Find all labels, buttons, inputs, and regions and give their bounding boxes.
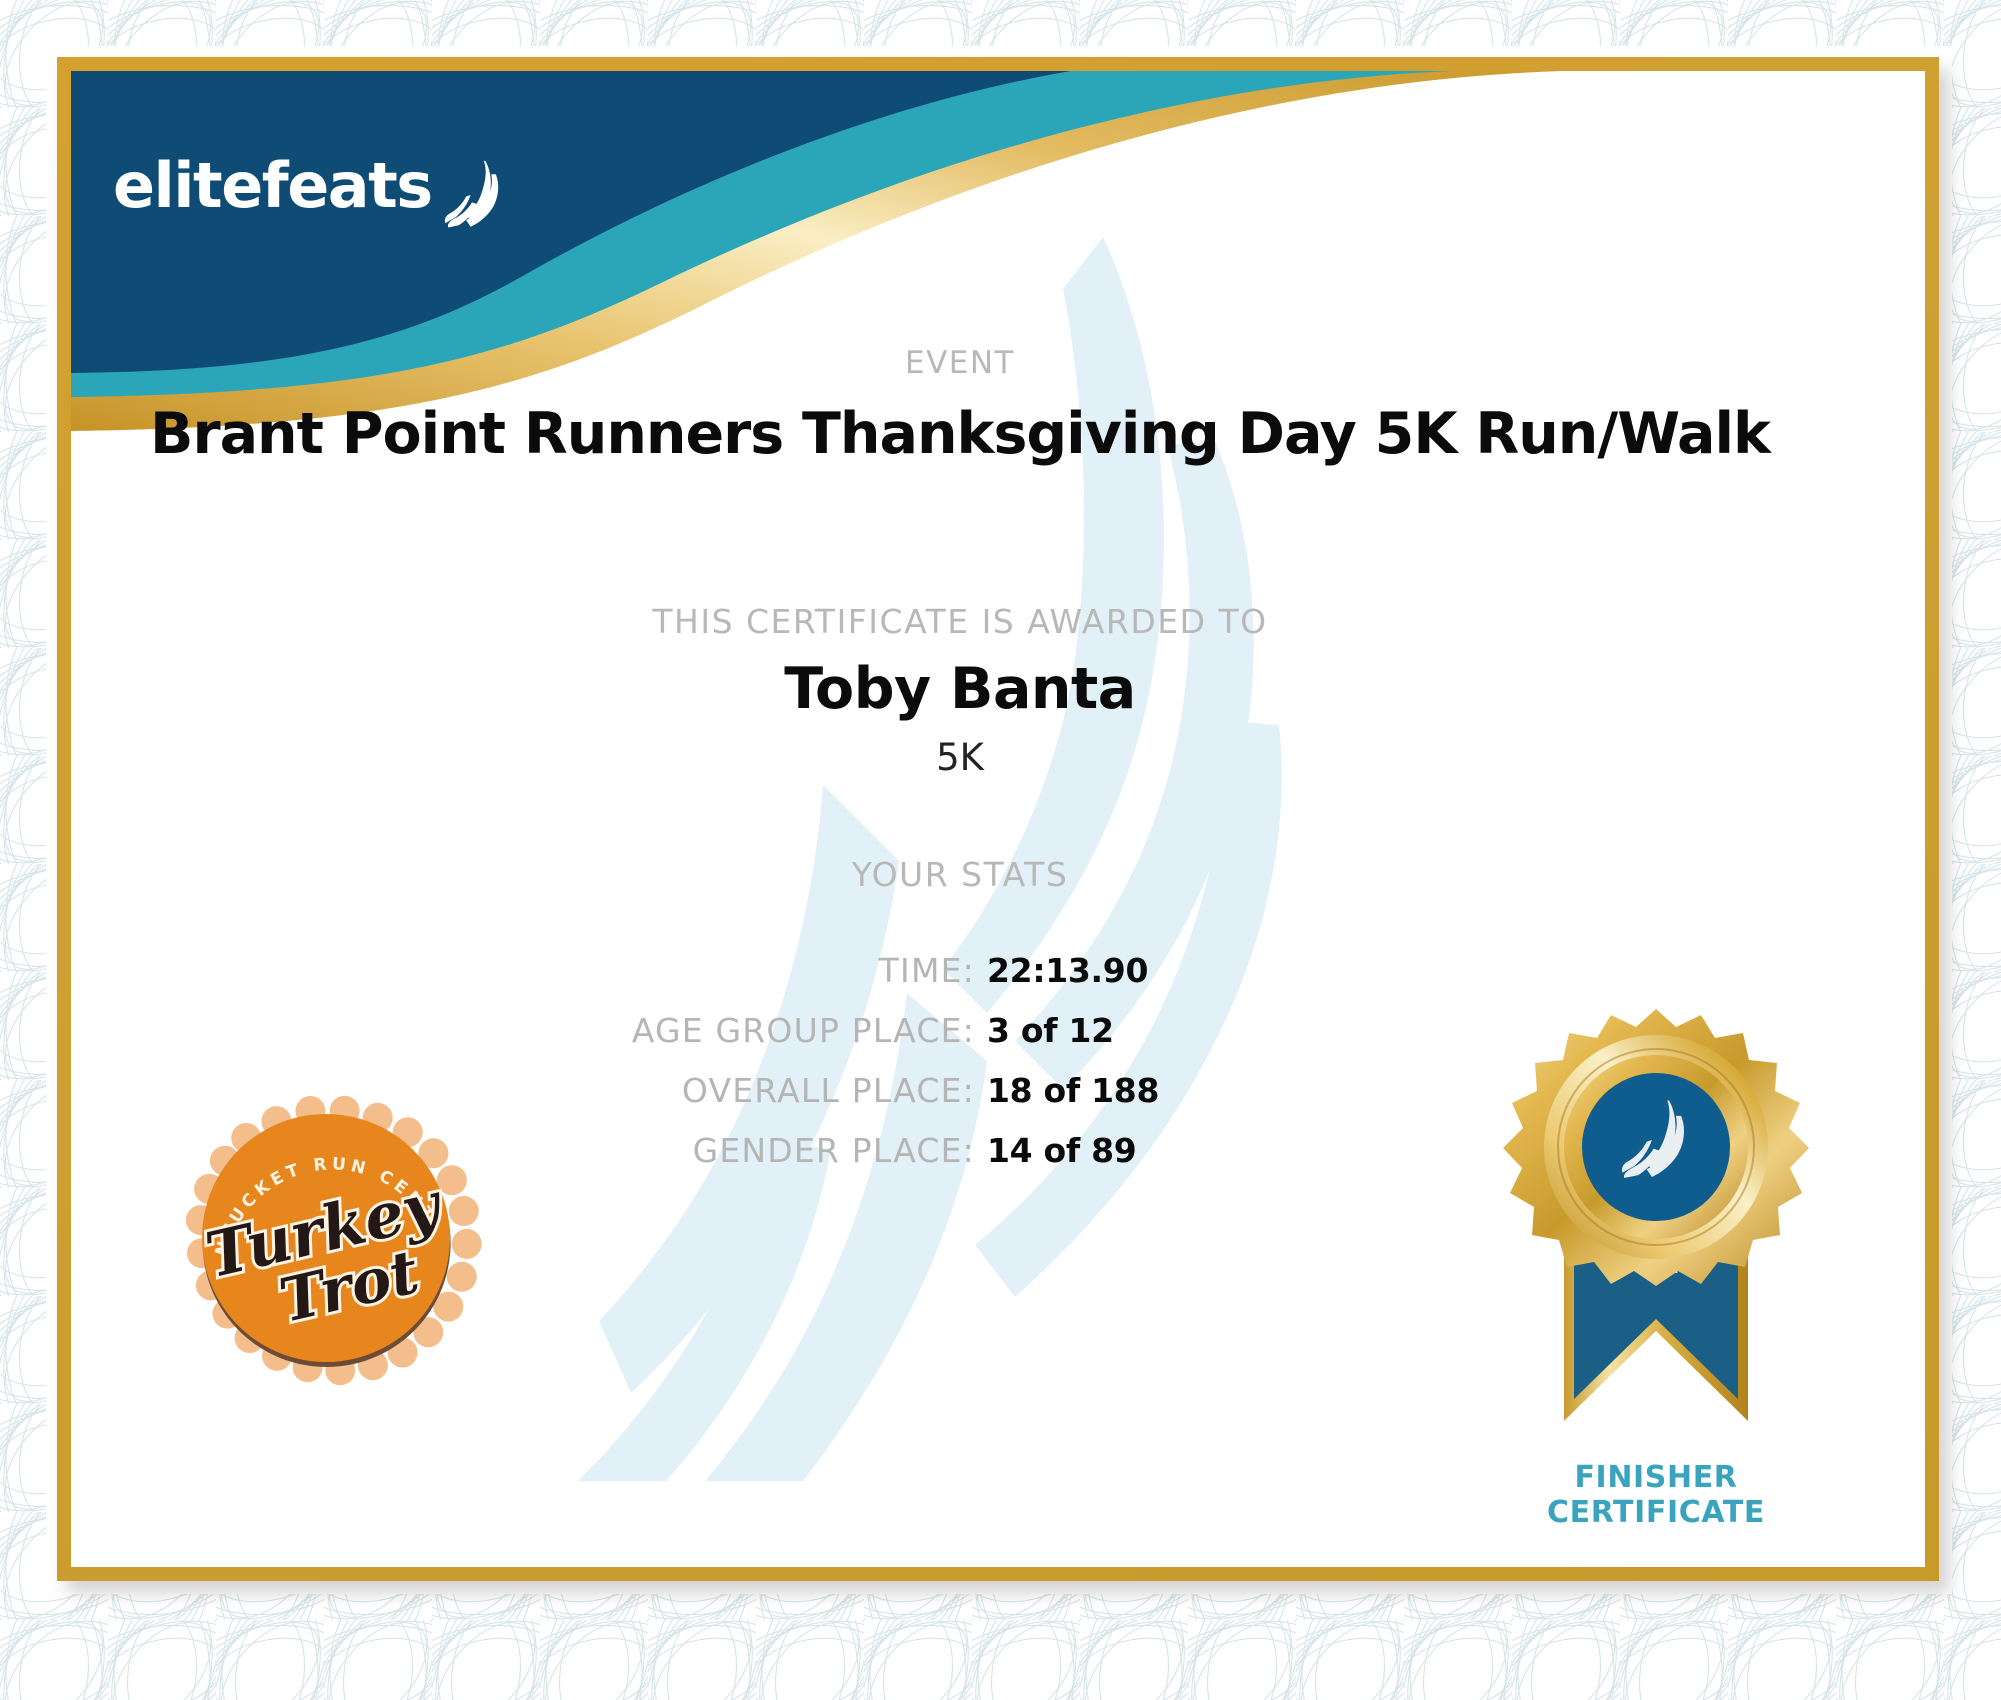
stat-key: OVERALL PLACE:	[515, 1071, 975, 1110]
stat-row: TIME: 22:13.90	[71, 951, 1849, 990]
certificate-page: elitefeats EVENT Brant Point Runners Tha…	[0, 0, 2001, 1700]
stat-key: GENDER PLACE:	[515, 1131, 975, 1170]
event-distance: 5K	[71, 736, 1849, 779]
stat-key: AGE GROUP PLACE:	[515, 1011, 975, 1050]
turkey-trot-badge: NANTUCKET RUN CENTRE Turkey Trot	[161, 1073, 491, 1403]
certificate-gold-frame: elitefeats EVENT Brant Point Runners Tha…	[57, 57, 1939, 1581]
stat-key: TIME:	[515, 951, 975, 990]
your-stats-label: YOUR STATS	[71, 855, 1849, 894]
stat-value: 3 of 12	[987, 1011, 1114, 1050]
finisher-caption-line2: CERTIFICATE	[1451, 1496, 1861, 1531]
stat-value: 18 of 188	[987, 1071, 1159, 1110]
certificate-content: EVENT Brant Point Runners Thanksgiving D…	[71, 71, 1925, 1567]
finisher-medal: 2025	[1486, 1001, 1826, 1501]
medal-starburst	[1503, 1009, 1809, 1286]
finisher-caption-line1: FINISHER	[1451, 1461, 1861, 1496]
recipient-name: Toby Banta	[71, 656, 1849, 722]
event-label: EVENT	[71, 345, 1849, 381]
certificate-inner-body: elitefeats EVENT Brant Point Runners Tha…	[71, 71, 1925, 1567]
finisher-caption: FINISHER CERTIFICATE	[1451, 1461, 1861, 1531]
stat-value: 22:13.90	[987, 951, 1148, 990]
awarded-to-label: THIS CERTIFICATE IS AWARDED TO	[71, 602, 1849, 641]
stat-value: 14 of 89	[987, 1131, 1136, 1170]
event-title: Brant Point Runners Thanksgiving Day 5K …	[71, 401, 1849, 467]
